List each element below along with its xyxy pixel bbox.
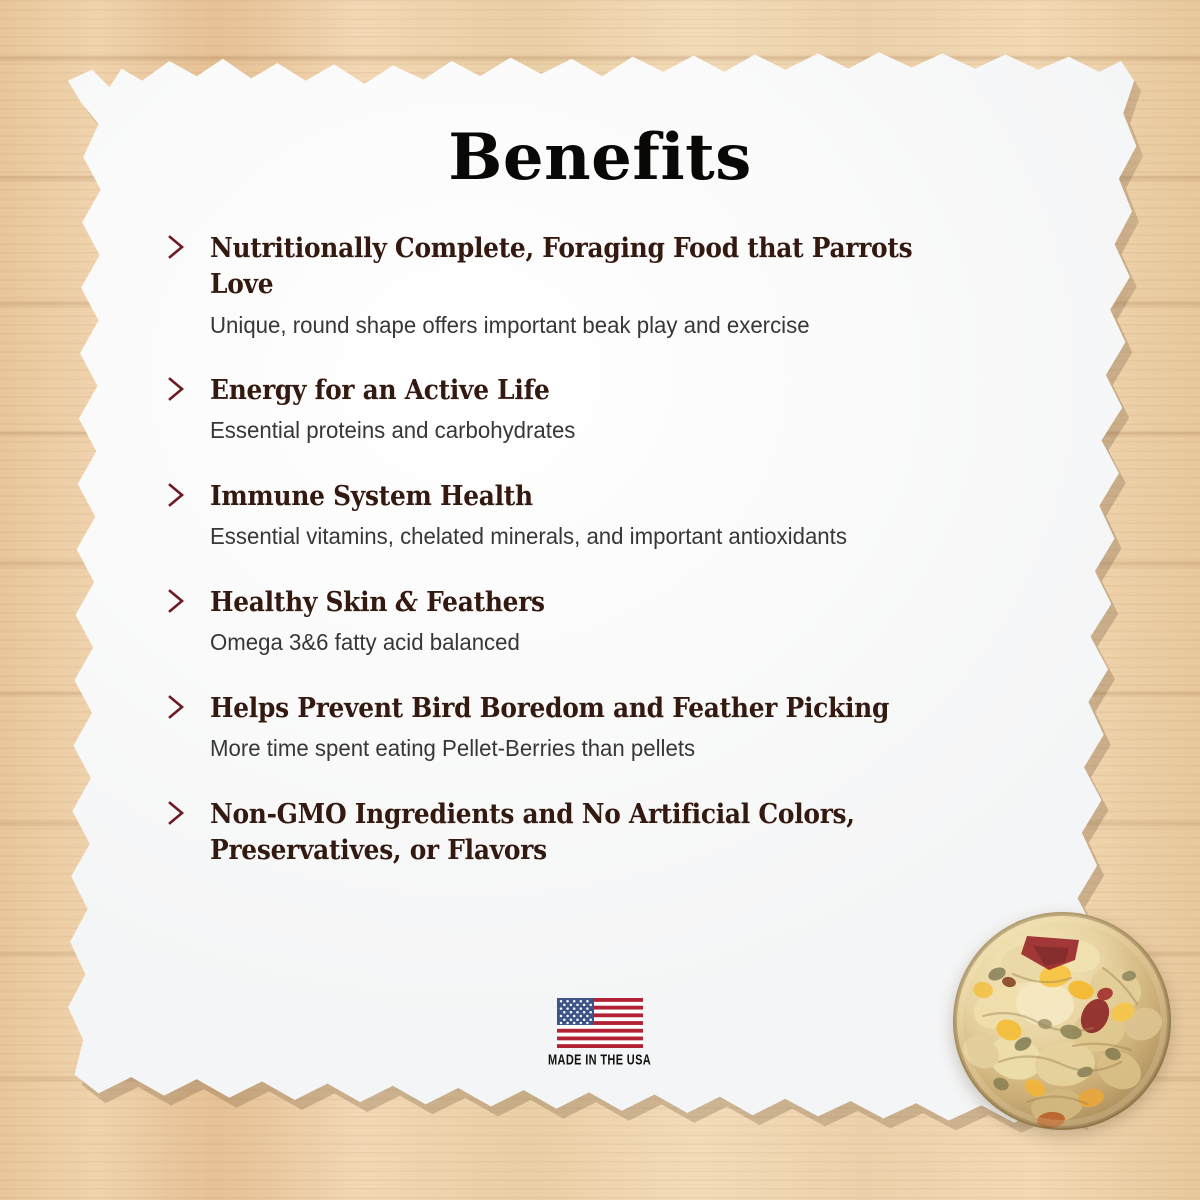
chevron-right-icon	[166, 694, 188, 720]
benefit-title: Energy for an Active Life	[210, 372, 984, 408]
benefit-item: Immune System Health Essential vitamins,…	[160, 478, 1065, 552]
usa-flag-icon	[557, 998, 643, 1048]
benefit-subtitle: More time spent eating Pellet-Berries th…	[210, 733, 1018, 764]
chevron-right-icon	[166, 234, 188, 260]
benefit-title-prefix: Healthy Skin	[210, 586, 396, 618]
benefit-item: Energy for an Active Life Essential prot…	[160, 372, 1065, 446]
benefit-title: Non-GMO Ingredients and No Artificial Co…	[210, 796, 884, 869]
benefit-item: Nutritionally Complete, Foraging Food th…	[160, 230, 1065, 340]
benefit-title: Helps Prevent Bird Boredom and Feather P…	[210, 690, 984, 726]
benefit-subtitle: Essential vitamins, chelated minerals, a…	[210, 521, 1018, 552]
benefit-subtitle: Omega 3&6 fatty acid balanced	[210, 627, 1018, 658]
benefits-list: Nutritionally Complete, Foraging Food th…	[160, 230, 1065, 868]
chevron-right-icon	[166, 588, 188, 614]
benefit-title: Healthy Skin & Feathers	[210, 584, 984, 620]
made-in-usa-label: MADE IN THE USA	[548, 1052, 651, 1069]
benefit-subtitle: Essential proteins and carbohydrates	[210, 415, 1018, 446]
benefit-item: Healthy Skin & Feathers Omega 3&6 fatty …	[160, 584, 1065, 658]
decorative-ampersand: &	[396, 586, 418, 618]
benefit-title: Immune System Health	[210, 478, 984, 514]
chevron-right-icon	[166, 482, 188, 508]
chevron-right-icon	[166, 376, 188, 402]
benefit-item: Helps Prevent Bird Boredom and Feather P…	[160, 690, 1065, 764]
benefit-subtitle: Unique, round shape offers important bea…	[210, 310, 1018, 341]
page-title: Benefits	[55, 120, 1145, 195]
pellet-berry-food-ball	[953, 912, 1171, 1130]
benefit-item: Non-GMO Ingredients and No Artificial Co…	[160, 796, 1065, 869]
chevron-right-icon	[166, 800, 188, 826]
benefit-title: Nutritionally Complete, Foraging Food th…	[210, 230, 984, 303]
page-background: Benefits Nutritionally Complete, Foragin…	[0, 0, 1200, 1200]
benefit-title-suffix: Feathers	[418, 586, 545, 618]
